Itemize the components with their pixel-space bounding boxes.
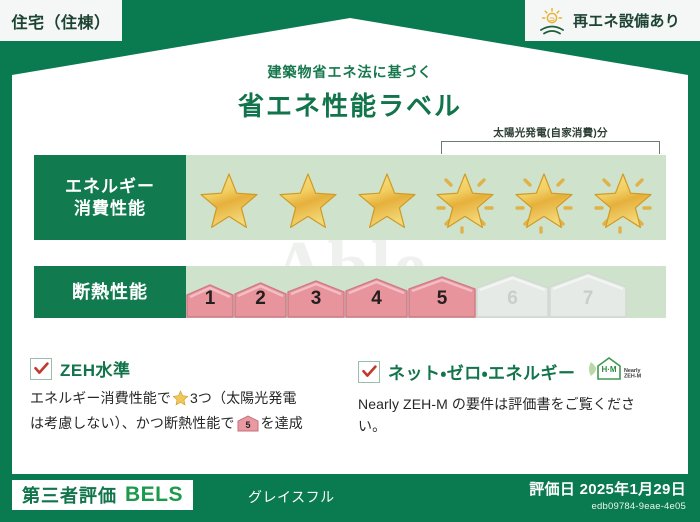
svg-text:5: 5 <box>245 420 250 430</box>
insulation-grade-number: 4 <box>371 288 382 318</box>
sun-solar-icon: ⊃ <box>537 7 567 35</box>
company-name: グレイスフル <box>248 487 335 507</box>
insulation-grade-number: 1 <box>205 288 216 318</box>
insulation-grade-number: 2 <box>255 288 266 318</box>
energy-performance-label: エネルギー 消費性能 <box>34 155 186 240</box>
insulation-grade-3: 3 <box>287 280 345 318</box>
insulation-grade-2: 2 <box>234 282 287 318</box>
insulation-grade-number: 3 <box>311 288 322 318</box>
title-sub: 建築物省エネ法に基づく <box>0 62 700 82</box>
star-icon <box>516 174 572 227</box>
page-title: 省エネ性能ラベル <box>0 86 700 123</box>
houses-wrap: 1234567 <box>186 266 666 318</box>
third-party-evaluation-label: 第三者評価 <box>22 482 117 508</box>
star-cell <box>198 164 260 236</box>
net-zero-energy-block: ネット・ゼロ・エネルギー H·M Nearly ZEH-M Nearly ZEH… <box>358 356 663 437</box>
star-icon <box>595 174 651 227</box>
star-icon <box>280 174 336 227</box>
zeh-standard-block: ZEH水準 エネルギー消費性能で 3つ（太陽光発電 は考慮しない）、かつ断熱性能… <box>30 356 342 438</box>
checkmark-icon <box>30 358 52 380</box>
energy-label-line1: エネルギー <box>65 176 155 197</box>
zeh-m-caption-2: ZEH-M <box>624 374 642 380</box>
inline-house-badge-icon: 5 <box>237 415 259 439</box>
footer: 第三者評価 BELS グレイスフル 評価日 2025年1月29日 edb0978… <box>0 474 700 522</box>
energy-performance-row: エネルギー 消費性能 太陽光発電(自家消費)分 <box>34 155 666 240</box>
star-cell <box>592 164 654 236</box>
energy-label-line2: 消費性能 <box>74 198 146 219</box>
evaluation-date-block: 評価日 2025年1月29日 edb09784-9eae-4e05 <box>529 478 686 512</box>
footer-brand: 第三者評価 BELS <box>12 480 193 510</box>
zeh-standard-heading: ZEH水準 <box>30 356 342 381</box>
zeh-body-text-4: を達成 <box>261 415 303 431</box>
zeh-body-text-1: エネルギー消費性能で <box>30 390 171 406</box>
zeh-body-text-2: 3つ（太陽光発電 <box>190 390 297 406</box>
zeh-m-logo-text: H·M <box>601 365 616 374</box>
insulation-grade-4: 4 <box>345 278 408 318</box>
star-cell <box>513 164 575 236</box>
star-cell <box>356 164 418 236</box>
star-cell <box>277 164 339 236</box>
insulation-grades-panel: 1234567 <box>186 266 666 318</box>
evaluation-date: 評価日 2025年1月29日 <box>529 478 686 499</box>
nearly-zeh-m-logo-icon: H·M Nearly ZEH-M <box>588 356 650 387</box>
title-block: 建築物省エネ法に基づく 省エネ性能ラベル <box>0 62 700 123</box>
stars-wrap <box>186 155 666 240</box>
star-icon <box>201 174 257 227</box>
insulation-grade-number: 6 <box>507 288 518 318</box>
insulation-grade-7: 7 <box>549 272 627 318</box>
building-type-badge: 住宅（住棟） <box>0 0 122 41</box>
insulation-grade-number: 7 <box>583 288 594 318</box>
insulation-grade-6: 6 <box>476 274 549 318</box>
net-zero-energy-body: Nearly ZEH-M の要件は評価書をご覧ください。 <box>358 394 663 437</box>
insulation-grade-number: 5 <box>437 288 448 318</box>
insulation-grade-1: 1 <box>186 284 234 318</box>
insulation-performance-row: 断熱性能 1234567 <box>34 266 666 318</box>
zeh-body-text-3: は考慮しない）、かつ断熱性能で <box>30 415 235 431</box>
renewable-equipment-badge: ⊃ 再エネ設備あり <box>525 0 700 41</box>
energy-stars-panel: 太陽光発電(自家消費)分 <box>186 155 666 240</box>
energy-performance-label: Able 住宅（住棟） ⊃ 再エネ設備あり 建築物省 <box>0 0 700 522</box>
inline-star-icon <box>172 390 189 413</box>
net-zero-energy-title: ネット・ゼロ・エネルギー <box>388 359 576 384</box>
evaluation-id: edb09784-9eae-4e05 <box>529 501 686 512</box>
insulation-label-text: 断熱性能 <box>72 281 148 304</box>
insulation-grade-5: 5 <box>408 276 476 318</box>
star-icon <box>359 174 415 227</box>
star-cell <box>434 164 496 236</box>
renewable-badge-label: 再エネ設備あり <box>573 10 680 31</box>
star-icon <box>437 174 493 227</box>
zeh-standard-body: エネルギー消費性能で 3つ（太陽光発電 は考慮しない）、かつ断熱性能で 5 を達… <box>30 388 342 438</box>
net-zero-energy-heading: ネット・ゼロ・エネルギー H·M Nearly ZEH-M <box>358 356 663 387</box>
bels-logo-text: BELS <box>125 483 183 507</box>
building-type-label: 住宅（住棟） <box>11 9 110 33</box>
insulation-performance-label: 断熱性能 <box>34 266 186 318</box>
zeh-standard-title: ZEH水準 <box>60 356 131 381</box>
checkmark-icon <box>358 361 380 383</box>
svg-text:⊃: ⊃ <box>549 16 555 23</box>
